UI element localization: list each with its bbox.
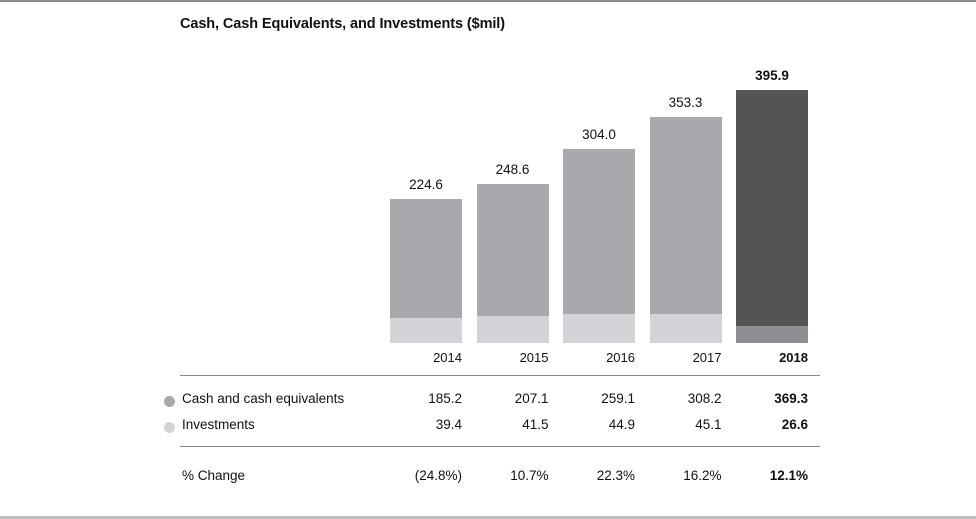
table-top-rule — [180, 375, 820, 376]
cell-cash-2014: 185.2 — [390, 390, 462, 408]
pct-change-label: % Change — [182, 467, 245, 485]
bar-total-label-2018: 395.9 — [736, 68, 808, 83]
cell-cash-2017: 308.2 — [650, 390, 722, 408]
bar-total-label-2017: 353.3 — [650, 95, 722, 110]
legend-dot-cash-icon — [164, 396, 175, 407]
x-tick-2014: 2014 — [390, 350, 462, 365]
cell-investments-2015: 41.5 — [477, 416, 549, 434]
bar-total-label-2016: 304.0 — [563, 127, 635, 142]
bar-segment-cash-2017 — [650, 117, 722, 314]
cell-cash-2016: 259.1 — [563, 390, 635, 408]
legend-dot-investments-icon — [164, 422, 175, 433]
bar-segment-investments-2017 — [650, 314, 722, 343]
bar-2016 — [563, 149, 635, 343]
cell-investments-2014: 39.4 — [390, 416, 462, 434]
cell-pct-change-2018: 12.1% — [736, 467, 808, 485]
cell-cash-2015: 207.1 — [477, 390, 549, 408]
bar-chart-plot: 224.6248.6304.0353.3395.9 — [0, 2, 976, 347]
bar-segment-investments-2014 — [390, 318, 462, 343]
data-table: Cash and cash equivalents 185.2207.1259.… — [0, 372, 976, 502]
bar-segment-cash-2014 — [390, 199, 462, 317]
cell-pct-change-2016: 22.3% — [563, 467, 635, 485]
x-tick-2017: 2017 — [650, 350, 722, 365]
cell-pct-change-2015: 10.7% — [477, 467, 549, 485]
bar-segment-investments-2016 — [563, 314, 635, 343]
cell-pct-change-2014: (24.8%) — [390, 467, 462, 485]
x-tick-2018: 2018 — [736, 350, 808, 365]
cell-investments-2016: 44.9 — [563, 416, 635, 434]
bar-total-label-2015: 248.6 — [477, 162, 549, 177]
cell-cash-2018: 369.3 — [736, 390, 808, 408]
x-tick-2015: 2015 — [477, 350, 549, 365]
bar-segment-cash-2018 — [736, 90, 808, 326]
cell-investments-2017: 45.1 — [650, 416, 722, 434]
x-tick-2016: 2016 — [563, 350, 635, 365]
bar-2017 — [650, 117, 722, 343]
bar-segment-cash-2016 — [563, 149, 635, 315]
bar-segment-cash-2015 — [477, 184, 549, 316]
bar-2014 — [390, 199, 462, 343]
table-row-label: Cash and cash equivalents — [182, 390, 344, 408]
bar-2015 — [477, 184, 549, 343]
table-row-label: Investments — [182, 416, 255, 434]
table-row-pct-change: % Change (24.8%)10.7%22.3%16.2%12.1% — [0, 467, 976, 489]
bar-segment-investments-2015 — [477, 316, 549, 343]
chart-page: Cash, Cash Equivalents, and Investments … — [0, 0, 976, 519]
bar-2018 — [736, 90, 808, 343]
table-mid-rule — [180, 446, 820, 447]
table-row: Investments 39.441.544.945.126.6 — [0, 416, 976, 438]
x-axis-tick-labels: 20142015201620172018 — [0, 350, 976, 372]
cell-investments-2018: 26.6 — [736, 416, 808, 434]
table-row: Cash and cash equivalents 185.2207.1259.… — [0, 390, 976, 412]
cell-pct-change-2017: 16.2% — [650, 467, 722, 485]
bar-total-label-2014: 224.6 — [390, 177, 462, 192]
bar-segment-investments-2018 — [736, 326, 808, 343]
